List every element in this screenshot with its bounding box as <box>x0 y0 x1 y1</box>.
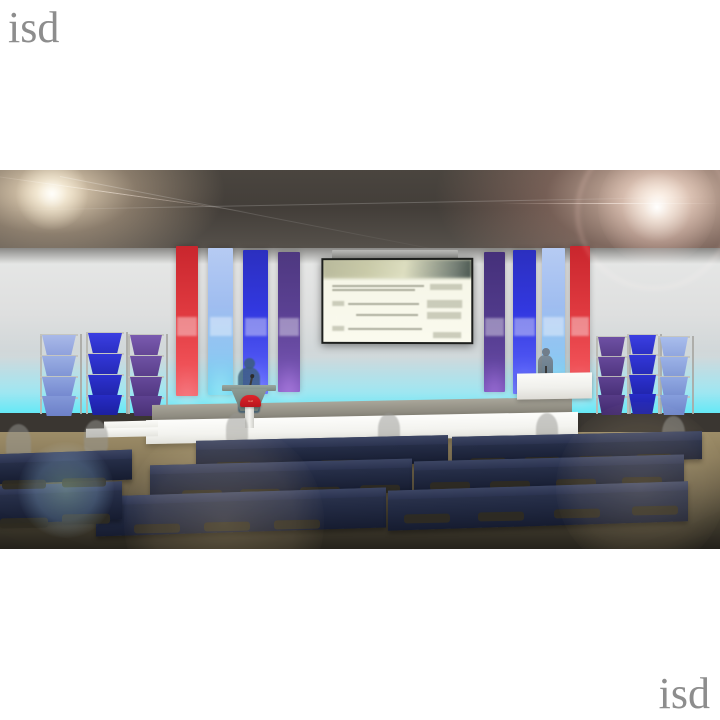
banner-purple-right <box>484 252 505 392</box>
rack-shelf <box>660 395 688 415</box>
slide-text-line <box>348 328 422 330</box>
rack-shelf <box>660 377 688 397</box>
rack-shelf <box>598 395 625 415</box>
rack-shelf <box>42 335 76 355</box>
render-image: isd <box>0 170 720 549</box>
banner-lightblue-left <box>208 248 233 395</box>
banner-red-left <box>176 246 198 396</box>
rack-shelf <box>629 394 656 414</box>
chair <box>632 506 678 516</box>
rack-shelf <box>88 354 122 374</box>
chair <box>404 514 450 524</box>
watermark-top-left: isd <box>8 6 59 50</box>
rack-shelf <box>598 377 625 397</box>
chair <box>62 514 110 525</box>
projection-screen <box>321 258 473 344</box>
rack-shelf <box>88 333 122 353</box>
chair <box>0 518 48 529</box>
rack-shelf <box>660 337 688 357</box>
rack-shelf <box>42 356 76 376</box>
slide-text-line <box>332 285 423 288</box>
chair <box>62 478 106 488</box>
rack-shelf <box>629 335 656 355</box>
slide-bullet-marker <box>332 326 344 331</box>
rack-shelf <box>598 357 625 377</box>
page-root: isd <box>0 0 720 720</box>
rack-shelf <box>629 375 656 395</box>
slide-text-block <box>427 300 463 307</box>
slide-text-block <box>430 284 463 291</box>
rack-shelf <box>88 375 122 395</box>
panel-table <box>517 372 592 399</box>
banner-purple-left <box>278 252 300 392</box>
slide-text-line <box>356 314 418 316</box>
watermark-bottom-right: isd <box>659 672 710 716</box>
rack-shelf <box>88 395 122 415</box>
rack-shelf <box>598 337 625 357</box>
slide-text-line <box>348 303 419 305</box>
rack-shelf <box>130 377 162 397</box>
ceiling-diagonal-seam <box>60 176 472 257</box>
rack-shelf <box>660 357 688 377</box>
chair <box>554 509 600 519</box>
slide-header-band <box>323 260 471 278</box>
lectern-sign: isd <box>240 395 261 407</box>
chair <box>134 524 180 534</box>
display-rack-lightblue <box>40 334 78 414</box>
lectern-sign-label: isd <box>240 395 261 407</box>
display-rack-purple <box>128 334 164 414</box>
display-rack-blue-right <box>627 334 658 414</box>
slide-bullet-marker <box>332 301 344 306</box>
chair <box>478 512 524 522</box>
attendee-figure <box>84 420 108 454</box>
chair <box>204 522 250 532</box>
rack-shelf <box>130 335 162 355</box>
slide-text-block <box>433 332 461 338</box>
chair <box>274 520 320 530</box>
rack-shelf <box>130 356 162 376</box>
rack-shelf <box>629 355 656 375</box>
display-rack-purple-right <box>596 336 627 414</box>
display-rack-blue <box>86 332 124 414</box>
slide-text-line <box>332 289 415 291</box>
chair <box>2 480 46 490</box>
projection-screen-content <box>323 260 471 342</box>
slide-text-block <box>427 312 461 319</box>
rack-shelf <box>42 377 76 397</box>
display-rack-lightblue-right <box>658 336 690 414</box>
ceiling-seam <box>0 196 720 211</box>
rack-shelf <box>42 396 76 416</box>
